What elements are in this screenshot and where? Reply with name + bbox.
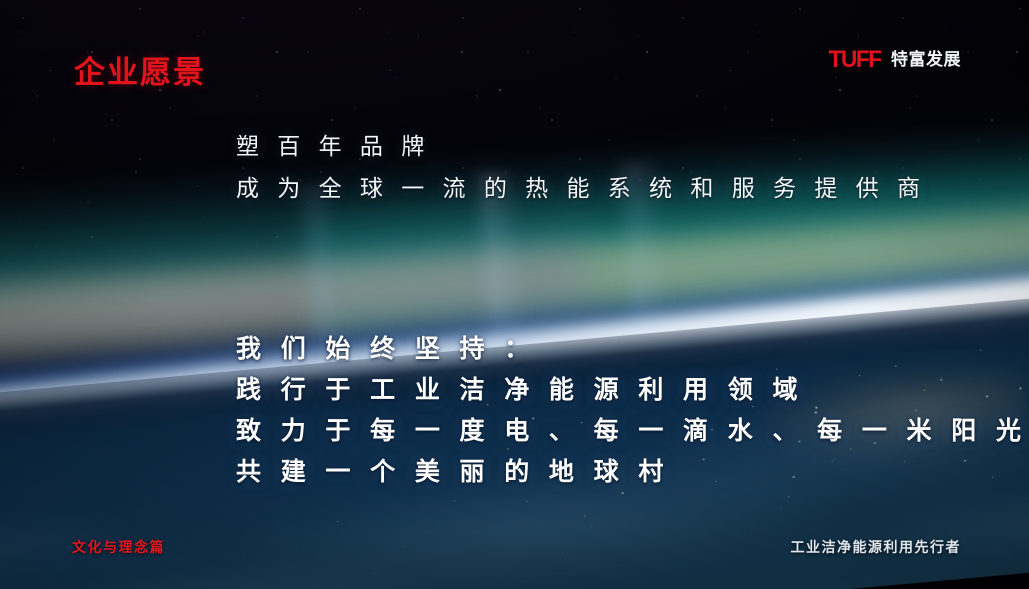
company-name-cn: 特富发展 (891, 52, 961, 69)
creed-line: 共 建 一 个 美 丽 的 地 球 村 (236, 451, 1026, 492)
presentation-slide: 企业愿景 TUFF 特富发展 塑 百 年 品 牌 成 为 全 球 一 流 的 热… (0, 0, 1029, 589)
vision-line: 成 为 全 球 一 流 的 热 能 系 统 和 服 务 提 供 商 (236, 168, 925, 210)
creed-statement-block: 我 们 始 终 坚 持 ： 践 行 于 工 业 洁 净 能 源 利 用 领 域 … (236, 328, 1026, 492)
vision-statement-block: 塑 百 年 品 牌 成 为 全 球 一 流 的 热 能 系 统 和 服 务 提 … (236, 126, 925, 210)
creed-line: 致 力 于 每 一 度 电 、 每 一 滴 水 、 每 一 米 阳 光 (236, 410, 1026, 451)
footer-section-label: 文化与理念篇 (72, 537, 165, 557)
creed-line: 践 行 于 工 业 洁 净 能 源 利 用 领 域 (236, 369, 1026, 410)
page-title: 企业愿景 (74, 47, 206, 92)
creed-line: 我 们 始 终 坚 持 ： (236, 328, 1026, 369)
vision-line: 塑 百 年 品 牌 (236, 126, 925, 168)
tuff-wordmark: TUFF (828, 48, 880, 72)
brand-logo: TUFF 特富发展 (827, 48, 961, 72)
footer-tagline: 工业洁净能源利用先行者 (791, 537, 962, 557)
